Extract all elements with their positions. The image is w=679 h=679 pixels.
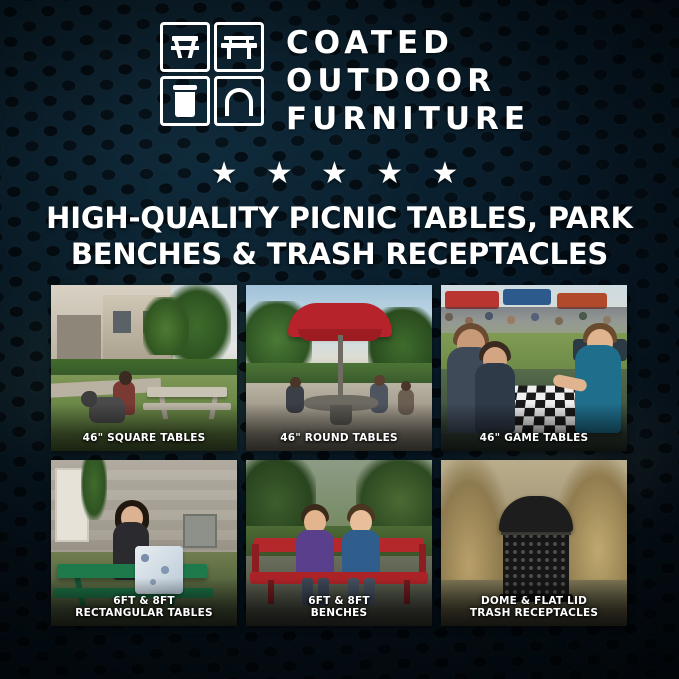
caption-line-1: 6FT & 8FT: [249, 595, 429, 607]
brand-name: COATED OUTDOOR FURNITURE: [286, 22, 530, 138]
gallery-item-square-tables[interactable]: 46" SQUARE TABLES: [51, 285, 237, 451]
caption-line-1: DOME & FLAT LID: [444, 595, 624, 607]
gallery-caption-round-tables: 46" ROUND TABLES: [246, 427, 432, 451]
brand-name-line-1: COATED: [286, 24, 530, 62]
banner-content: COATED OUTDOOR FURNITURE ★ ★ ★ ★ ★ HIGH-…: [0, 0, 679, 679]
brand-name-line-3: FURNITURE: [286, 100, 530, 138]
product-gallery: 46" SQUARE TABLES: [51, 285, 629, 626]
brand-logo: COATED OUTDOOR FURNITURE: [160, 22, 540, 142]
product-banner-image: COATED OUTDOOR FURNITURE ★ ★ ★ ★ ★ HIGH-…: [0, 0, 679, 679]
gallery-item-game-tables[interactable]: 46" GAME TABLES: [441, 285, 627, 451]
square-picnic-table-icon: [160, 22, 210, 72]
gallery-caption-game-tables: 46" GAME TABLES: [441, 427, 627, 451]
caption-line-1: 6FT & 8FT: [54, 595, 234, 607]
gallery-item-rectangular-tables[interactable]: 6FT & 8FT RECTANGULAR TABLES: [51, 460, 237, 626]
dome-lid-trash-receptacle-icon: [214, 76, 264, 126]
gallery-caption-rectangular-tables: 6FT & 8FT RECTANGULAR TABLES: [51, 590, 237, 626]
page-title: HIGH-QUALITY PICNIC TABLES, PARK BENCHES…: [34, 200, 645, 272]
gallery-item-trash-receptacles[interactable]: DOME & FLAT LID TRASH RECEPTACLES: [441, 460, 627, 626]
gallery-caption-square-tables: 46" SQUARE TABLES: [51, 427, 237, 451]
park-bench-icon: [214, 22, 264, 72]
caption-line-2: RECTANGULAR TABLES: [54, 607, 234, 619]
gallery-caption-trash-receptacles: DOME & FLAT LID TRASH RECEPTACLES: [441, 590, 627, 626]
star-rating: ★ ★ ★ ★ ★: [0, 158, 679, 190]
gallery-caption-benches: 6FT & 8FT BENCHES: [246, 590, 432, 626]
headline-line-2: BENCHES & TRASH RECEPTACLES: [34, 236, 645, 272]
logo-icon-grid: [160, 22, 264, 132]
headline-line-1: HIGH-QUALITY PICNIC TABLES, PARK: [34, 200, 645, 236]
gallery-item-round-tables[interactable]: 46" ROUND TABLES: [246, 285, 432, 451]
caption-line-2: TRASH RECEPTACLES: [444, 607, 624, 619]
caption-line-2: BENCHES: [249, 607, 429, 619]
gallery-item-benches[interactable]: 6FT & 8FT BENCHES: [246, 460, 432, 626]
flat-lid-trash-receptacle-icon: [160, 76, 210, 126]
brand-name-line-2: OUTDOOR: [286, 62, 530, 100]
